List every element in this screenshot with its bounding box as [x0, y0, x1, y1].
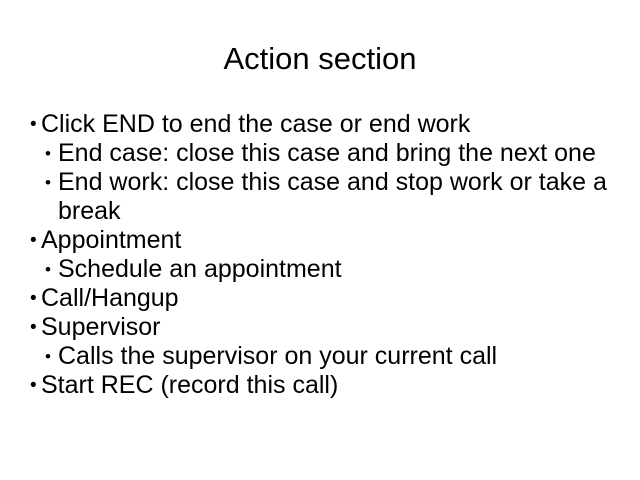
list-item-label: Appointment	[41, 226, 615, 255]
list-item: • Schedule an appointment	[45, 255, 615, 284]
list-item-label: Start REC (record this call)	[41, 371, 615, 400]
list-item-label: Click END to end the case or end work	[41, 110, 615, 139]
list-item: • End work: close this case and stop wor…	[45, 168, 615, 226]
bullet-icon: •	[30, 226, 41, 255]
bullet-list: • Click END to end the case or end work …	[30, 110, 615, 400]
bullet-icon: •	[30, 284, 41, 313]
list-item: • Click END to end the case or end work	[30, 110, 615, 139]
list-item: • Supervisor	[30, 313, 615, 342]
list-item: • End case: close this case and bring th…	[45, 139, 615, 168]
bullet-icon: •	[45, 342, 58, 371]
list-item: • Appointment	[30, 226, 615, 255]
bullet-icon: •	[30, 110, 41, 139]
bullet-icon: •	[45, 168, 58, 197]
bullet-icon: •	[30, 313, 41, 342]
list-item-label: Supervisor	[41, 313, 615, 342]
list-item-label: Calls the supervisor on your current cal…	[58, 342, 614, 371]
list-item: • Calls the supervisor on your current c…	[45, 342, 615, 371]
list-item: • Start REC (record this call)	[30, 371, 615, 400]
bullet-icon: •	[30, 371, 41, 400]
page-title: Action section	[0, 40, 640, 78]
list-item-label: Schedule an appointment	[58, 255, 614, 284]
list-item: • Call/Hangup	[30, 284, 615, 313]
list-item-label: End work: close this case and stop work …	[58, 168, 614, 226]
list-item-label: Call/Hangup	[41, 284, 615, 313]
bullet-icon: •	[45, 255, 58, 284]
slide: Action section • Click END to end the ca…	[0, 0, 640, 480]
bullet-icon: •	[45, 139, 58, 168]
list-item-label: End case: close this case and bring the …	[58, 139, 614, 168]
